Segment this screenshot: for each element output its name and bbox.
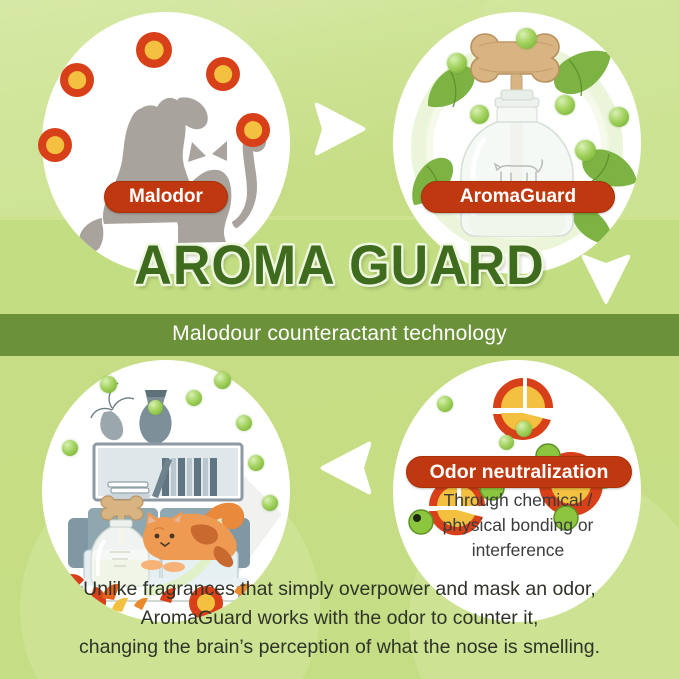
arrow-right-icon <box>308 98 370 160</box>
fragrance-dot <box>575 140 596 161</box>
aromaguard-badge: AromaGuard <box>421 181 615 213</box>
arrow-down-icon <box>578 252 634 308</box>
fragrance-dot <box>555 95 575 115</box>
vase-icon <box>139 390 171 444</box>
odor-molecule <box>136 32 172 68</box>
fragrance-dot <box>236 415 252 431</box>
fragrance-dot <box>248 455 264 471</box>
malodor-badge: Malodor <box>104 181 228 213</box>
fragrance-dot <box>516 421 532 437</box>
fragrance-dot <box>262 495 278 511</box>
fragrance-dot <box>437 396 453 412</box>
fragrance-dot <box>609 107 629 127</box>
fragrance-dot <box>214 372 231 389</box>
fragrance-dot <box>148 400 163 415</box>
odor-molecule <box>206 57 240 91</box>
fragrance-dot <box>100 376 117 393</box>
odor-molecule <box>38 128 72 162</box>
fragrance-dot <box>516 28 537 49</box>
odor-molecule <box>236 113 270 147</box>
odor-neutralization-caption: Through chemical / physical bonding or i… <box>400 488 636 563</box>
odor-molecule <box>60 63 94 97</box>
caption-line-1: Through chemical / <box>400 488 636 513</box>
footer-line-1: Unlike fragrances that simply overpower … <box>24 575 655 604</box>
fragrance-dot <box>447 53 467 73</box>
footer-line-2: AromaGuard works with the odor to counte… <box>24 604 655 633</box>
caption-line-3: interference <box>400 538 636 563</box>
fragrance-dot <box>499 435 514 450</box>
footer-line-3: changing the brain’s perception of what … <box>24 633 655 662</box>
caption-line-2: physical bonding or <box>400 513 636 538</box>
fragrance-dot <box>62 440 78 456</box>
footer-paragraph: Unlike fragrances that simply overpower … <box>24 575 655 662</box>
page-title: AROMA GUARD <box>24 232 655 297</box>
fragrance-dot <box>470 105 489 124</box>
infographic-page: Malodor <box>0 0 679 679</box>
arrow-left-icon <box>318 437 378 499</box>
page-subtitle: Malodour counteractant technology <box>0 322 679 346</box>
odor-neutralization-badge: Odor neutralization <box>406 456 632 488</box>
fragrance-dot <box>186 390 202 406</box>
